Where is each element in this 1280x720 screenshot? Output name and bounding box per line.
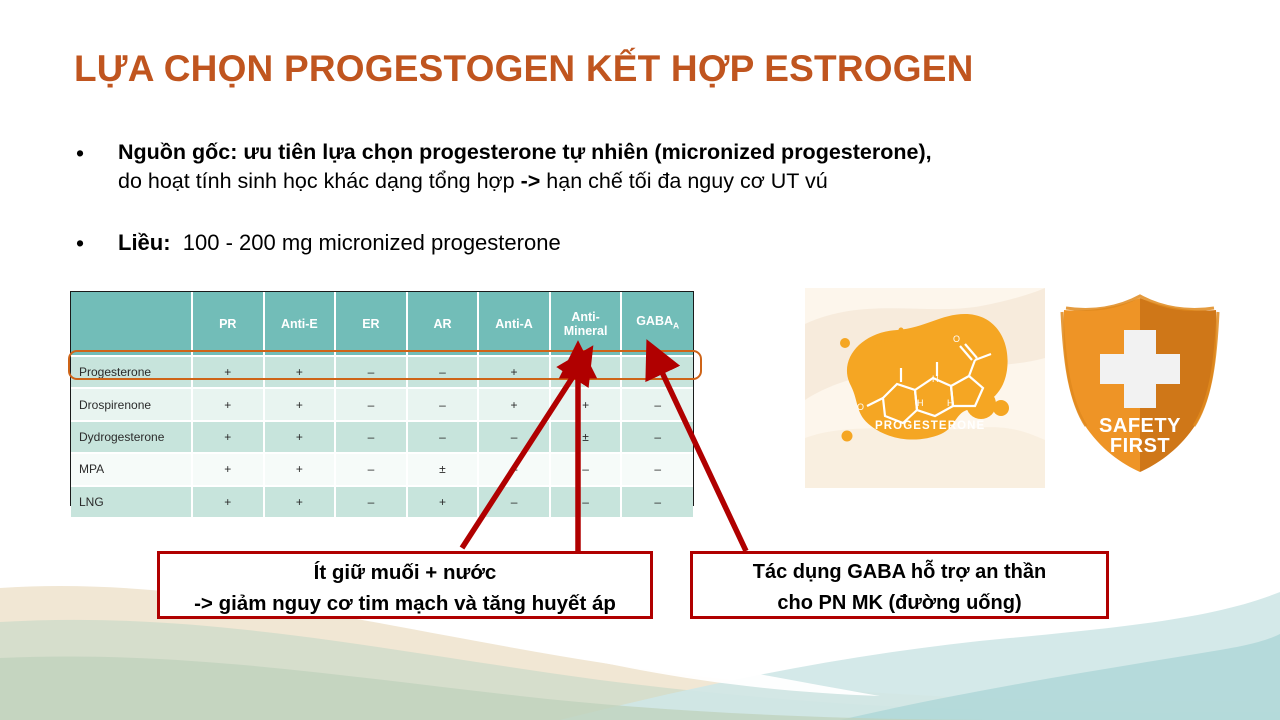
table-cell: – [621, 453, 693, 485]
table-cell: – [335, 486, 407, 518]
row-label: Drospirenone [71, 388, 192, 420]
shield-line-1: SAFETY [1099, 415, 1181, 437]
callout-left-line-2: -> giảm nguy cơ tim mạch và tăng huyết á… [160, 588, 650, 619]
table-row: MPA++–±––– [71, 453, 693, 485]
bullet-1-arrow: -> [521, 169, 547, 193]
shield-line-2: FIRST [1110, 435, 1170, 457]
table-cell: – [335, 388, 407, 420]
table-cell: ± [407, 453, 479, 485]
callout-left-line-1: Ít giữ muối + nước [160, 557, 650, 588]
table-cell: + [407, 486, 479, 518]
table-corner-header [71, 292, 192, 356]
table-cell: – [407, 421, 479, 453]
dot-5 [842, 431, 853, 442]
table-cell: – [550, 453, 622, 485]
table-cell: + [192, 486, 264, 518]
dose-value: 100 - 200 mg micronized progesterone [183, 230, 561, 255]
progesterone-caption: PROGESTERONE [875, 420, 985, 432]
table-cell: + [264, 421, 336, 453]
table-cell: + [192, 356, 264, 388]
bullet-marker: • [76, 228, 84, 258]
table-cell: – [621, 421, 693, 453]
bullet-item-origin: • Nguồn gốc: ưu tiên lựa chọn progestero… [76, 138, 1236, 196]
table-cell: + [478, 388, 550, 420]
wave-sage-1 [0, 620, 1280, 720]
dot-1 [840, 338, 850, 348]
table-cell: + [478, 356, 550, 388]
dose-label: Liều: [118, 230, 171, 255]
bullet-1-line-1: Nguồn gốc: ưu tiên lựa chọn progesterone… [118, 138, 1236, 167]
atom-o-left: O [857, 402, 864, 412]
table-cell: + [264, 356, 336, 388]
table-cell: + [192, 453, 264, 485]
bullet-item-dose: • Liều: 100 - 200 mg micronized progeste… [76, 228, 976, 257]
table-cell: – [335, 421, 407, 453]
table-cell: – [550, 486, 622, 518]
atom-h-2: H [917, 398, 924, 408]
progestogen-activity-table: PR Anti-E ER AR Anti-A Anti- Mineral GAB… [70, 291, 694, 506]
anti-mineral-line-2: Mineral [564, 324, 608, 338]
callout-right-box: Tác dụng GABA hỗ trợ an thần cho PN MK (… [690, 551, 1109, 619]
dot-2 [873, 334, 885, 346]
gaba-subscript: A [673, 321, 679, 331]
row-label: MPA [71, 453, 192, 485]
col-header-anti-e: Anti-E [264, 292, 336, 356]
table-cell: ± [550, 421, 622, 453]
col-header-anti-a: Anti-A [478, 292, 550, 356]
table-cell: – [621, 486, 693, 518]
table-row: Progesterone++––+++ [71, 356, 693, 388]
bullet-1-line-2b: hạn chế tối đa nguy cơ UT vú [546, 169, 827, 193]
table-cell: – [478, 486, 550, 518]
anti-mineral-line-1: Anti- [571, 310, 599, 324]
atom-h-1: H [932, 374, 939, 384]
bullet-1-line-2a: do hoạt tính sinh học khác dạng tổng hợp [118, 169, 521, 193]
row-label: Progesterone [71, 356, 192, 388]
table-cell: + [264, 388, 336, 420]
table-header-row: PR Anti-E ER AR Anti-A Anti- Mineral GAB… [71, 292, 693, 356]
col-header-anti-mineral: Anti- Mineral [550, 292, 622, 356]
table-cell: – [478, 453, 550, 485]
atom-h-3: H [947, 398, 954, 408]
table-cell: – [478, 421, 550, 453]
dot-4 [899, 328, 904, 333]
callout-right-line-2: cho PN MK (đường uống) [693, 588, 1106, 619]
table-cell: + [264, 486, 336, 518]
row-label: LNG [71, 486, 192, 518]
col-header-gaba: GABAA [621, 292, 693, 356]
table-cell: + [192, 388, 264, 420]
table-cell: – [407, 388, 479, 420]
wave-sage-2 [0, 657, 1000, 720]
atom-o-right: O [953, 334, 960, 344]
col-header-ar: AR [407, 292, 479, 356]
callout-right-line-1: Tác dụng GABA hỗ trợ an thần [693, 557, 1106, 588]
table-row: Drospirenone++––++– [71, 388, 693, 420]
table-cell: + [550, 356, 622, 388]
table-cell: + [264, 453, 336, 485]
callout-left-box: Ít giữ muối + nước -> giảm nguy cơ tim m… [157, 551, 653, 619]
table-cell: – [335, 453, 407, 485]
gaba-label: GABA [636, 314, 673, 328]
table-cell: – [407, 356, 479, 388]
blob-bump-small [993, 400, 1009, 416]
row-label: Dydrogesterone [71, 421, 192, 453]
safety-shield-illustration: SAFETY FIRST [1052, 292, 1228, 478]
table-row: Dydrogesterone++–––±– [71, 421, 693, 453]
table-cell: – [621, 388, 693, 420]
dot-3 [887, 334, 895, 342]
col-header-pr: PR [192, 292, 264, 356]
table-cell: + [550, 388, 622, 420]
table-cell: + [192, 421, 264, 453]
col-header-er: ER [335, 292, 407, 356]
wave-teal-dark [840, 634, 1280, 720]
bullet-marker: • [76, 138, 84, 168]
table-cell: + [621, 356, 693, 388]
table-cell: – [335, 356, 407, 388]
table-row: LNG++–+––– [71, 486, 693, 518]
progesterone-illustration: O O H H H PROGESTERONE [805, 288, 1045, 488]
page-title: LỰA CHỌN PROGESTOGEN KẾT HỢP ESTROGEN [74, 48, 974, 90]
